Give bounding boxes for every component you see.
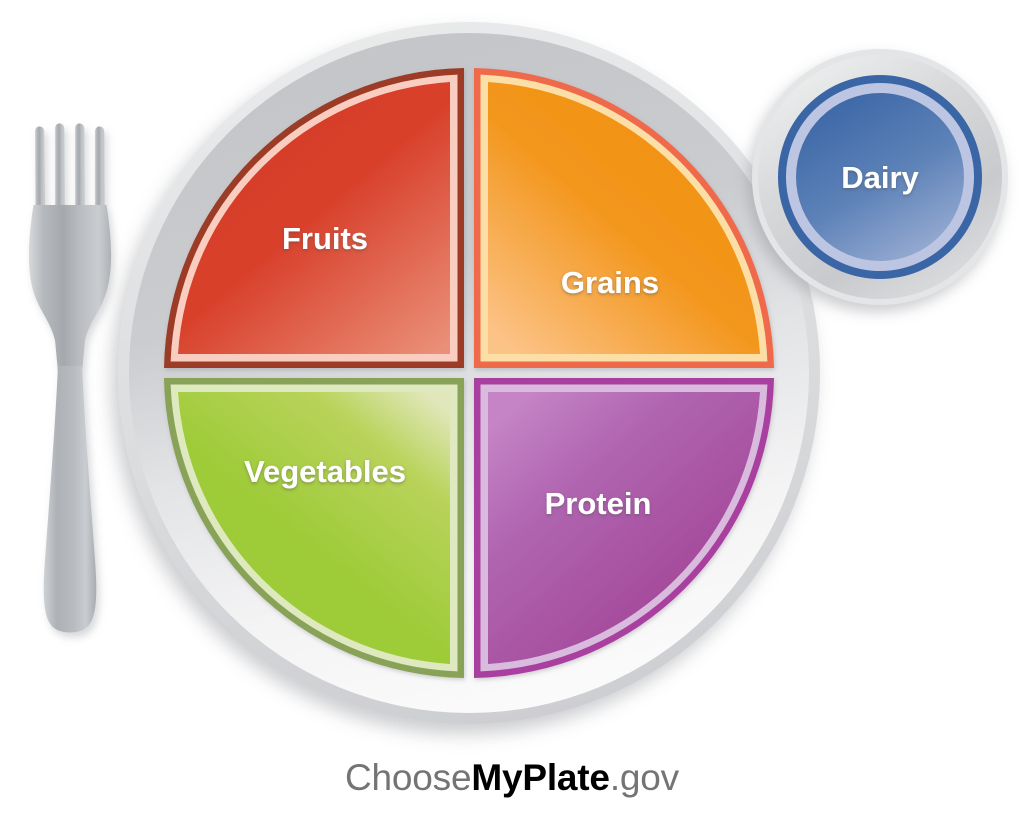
protein-label: Protein (545, 486, 652, 521)
plate-section-fruits[interactable]: Fruits (164, 68, 464, 368)
logo-suffix: .gov (610, 757, 679, 798)
logo-brand: MyPlate (471, 757, 609, 798)
plate (118, 22, 820, 724)
plate-section-protein[interactable]: Protein (474, 378, 774, 678)
plate-section-grains[interactable]: Grains (474, 68, 774, 368)
fork-handle (44, 366, 97, 633)
fork-head (29, 205, 111, 372)
fork-icon (29, 123, 111, 632)
myplate-illustration: Fruits Grains Vegetables Protein (0, 0, 1024, 817)
dairy-cup[interactable]: Dairy (752, 49, 1008, 305)
logo-prefix: Choose (345, 757, 471, 798)
dairy-label: Dairy (841, 160, 919, 195)
fruits-label: Fruits (282, 221, 368, 256)
plate-section-vegetables[interactable]: Vegetables (164, 378, 464, 678)
choosemyplate-logo[interactable]: ChooseMyPlate.gov (0, 757, 1024, 799)
plate-rim (129, 33, 809, 713)
myplate-graphic: Fruits Grains Vegetables Protein (0, 0, 1024, 817)
grains-label: Grains (561, 265, 659, 300)
vegetables-label: Vegetables (244, 454, 406, 489)
